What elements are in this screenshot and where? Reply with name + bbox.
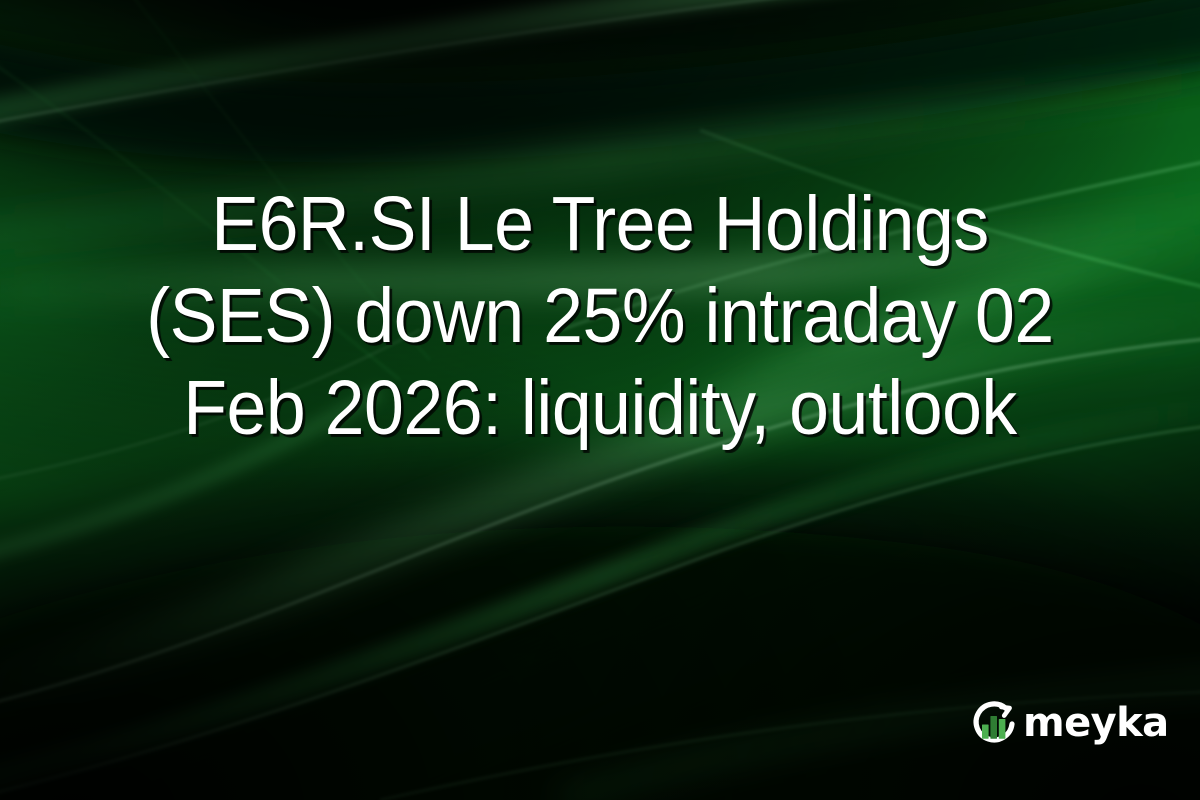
headline-line-2: (SES) down 25% intraday 02 — [79, 270, 1121, 362]
logo-bar-1 — [982, 725, 989, 739]
headline-line-3: Feb 2026: liquidity, outlook — [79, 362, 1121, 454]
meyka-wordmark: meyka — [1023, 703, 1168, 745]
logo-bar-2 — [990, 716, 997, 739]
headline-block: E6R.SI Le Tree Holdings (SES) down 25% i… — [0, 178, 1200, 454]
headline-line-1: E6R.SI Le Tree Holdings — [79, 178, 1121, 270]
meyka-circular-bar-chart-icon — [968, 698, 1020, 750]
social-share-card: E6R.SI Le Tree Holdings (SES) down 25% i… — [0, 0, 1200, 800]
meyka-logo[interactable]: meyka — [968, 698, 1168, 750]
logo-bar-3 — [999, 719, 1006, 739]
